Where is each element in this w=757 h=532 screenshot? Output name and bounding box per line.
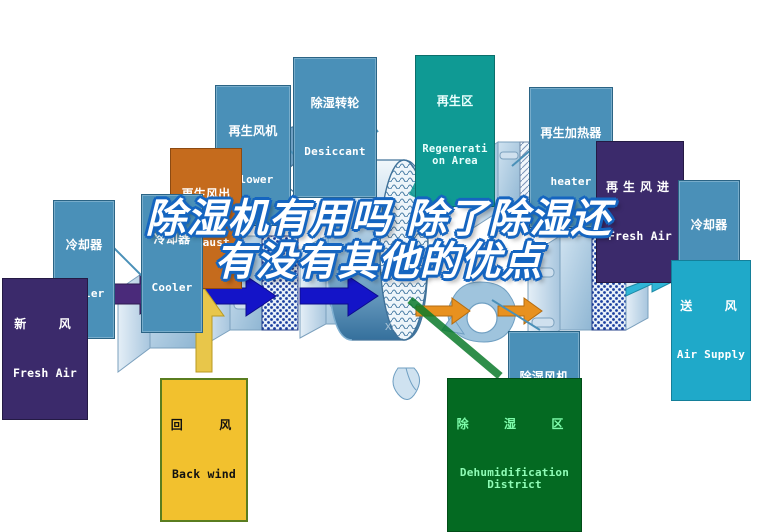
dehum-blower-unit xyxy=(442,282,516,342)
callout-back-wind-cn: 回 风 xyxy=(164,419,244,432)
callout-regen-blower-cn: 再生风机 xyxy=(218,125,288,138)
headline-overlay: 除湿机有用吗 除了除湿还 有没有其他的优点 xyxy=(0,198,757,284)
svg-text:xt: xt xyxy=(385,318,396,333)
arrow-dehum-orange-1 xyxy=(416,298,470,324)
callout-fresh-air[interactable]: 新 风 Fresh Air xyxy=(2,278,88,420)
callout-regen-area[interactable]: 再生区 Regenerati on Area xyxy=(415,55,495,207)
callout-air-supply-en: Air Supply xyxy=(674,349,748,361)
callout-fresh-air-cn: 新 风 xyxy=(5,318,85,331)
callout-fresh-air-en: Fresh Air xyxy=(5,367,85,380)
headline-line-2: 有没有其他的优点 xyxy=(0,241,757,284)
callout-back-wind-en: Back wind xyxy=(164,468,244,481)
callout-regen-area-cn: 再生区 xyxy=(418,95,492,108)
callout-regen-area-en: Regenerati on Area xyxy=(418,144,492,168)
callout-dehum-district[interactable]: 除 湿 区 Dehumidification District xyxy=(447,378,582,532)
dehumidifier-diagram: xt xyxy=(0,0,757,488)
callout-desiccant[interactable]: 除湿转轮 Desiccant xyxy=(293,57,377,198)
callout-desiccant-cn: 除湿转轮 xyxy=(296,97,374,110)
callout-dehum-district-cn: 除 湿 区 xyxy=(450,418,579,431)
headline-line-1: 除湿机有用吗 除了除湿还 xyxy=(146,196,612,242)
callout-regen-heater-cn: 再生加热器 xyxy=(532,127,610,140)
callout-air-supply-cn: 送 风 xyxy=(674,300,748,313)
callout-back-wind[interactable]: 回 风 Back wind xyxy=(160,378,248,522)
callout-regen-fresh-air-cn: 再生风进 xyxy=(599,181,681,194)
callout-desiccant-en: Desiccant xyxy=(296,146,374,158)
arrow-dehum-orange-2 xyxy=(498,298,542,324)
